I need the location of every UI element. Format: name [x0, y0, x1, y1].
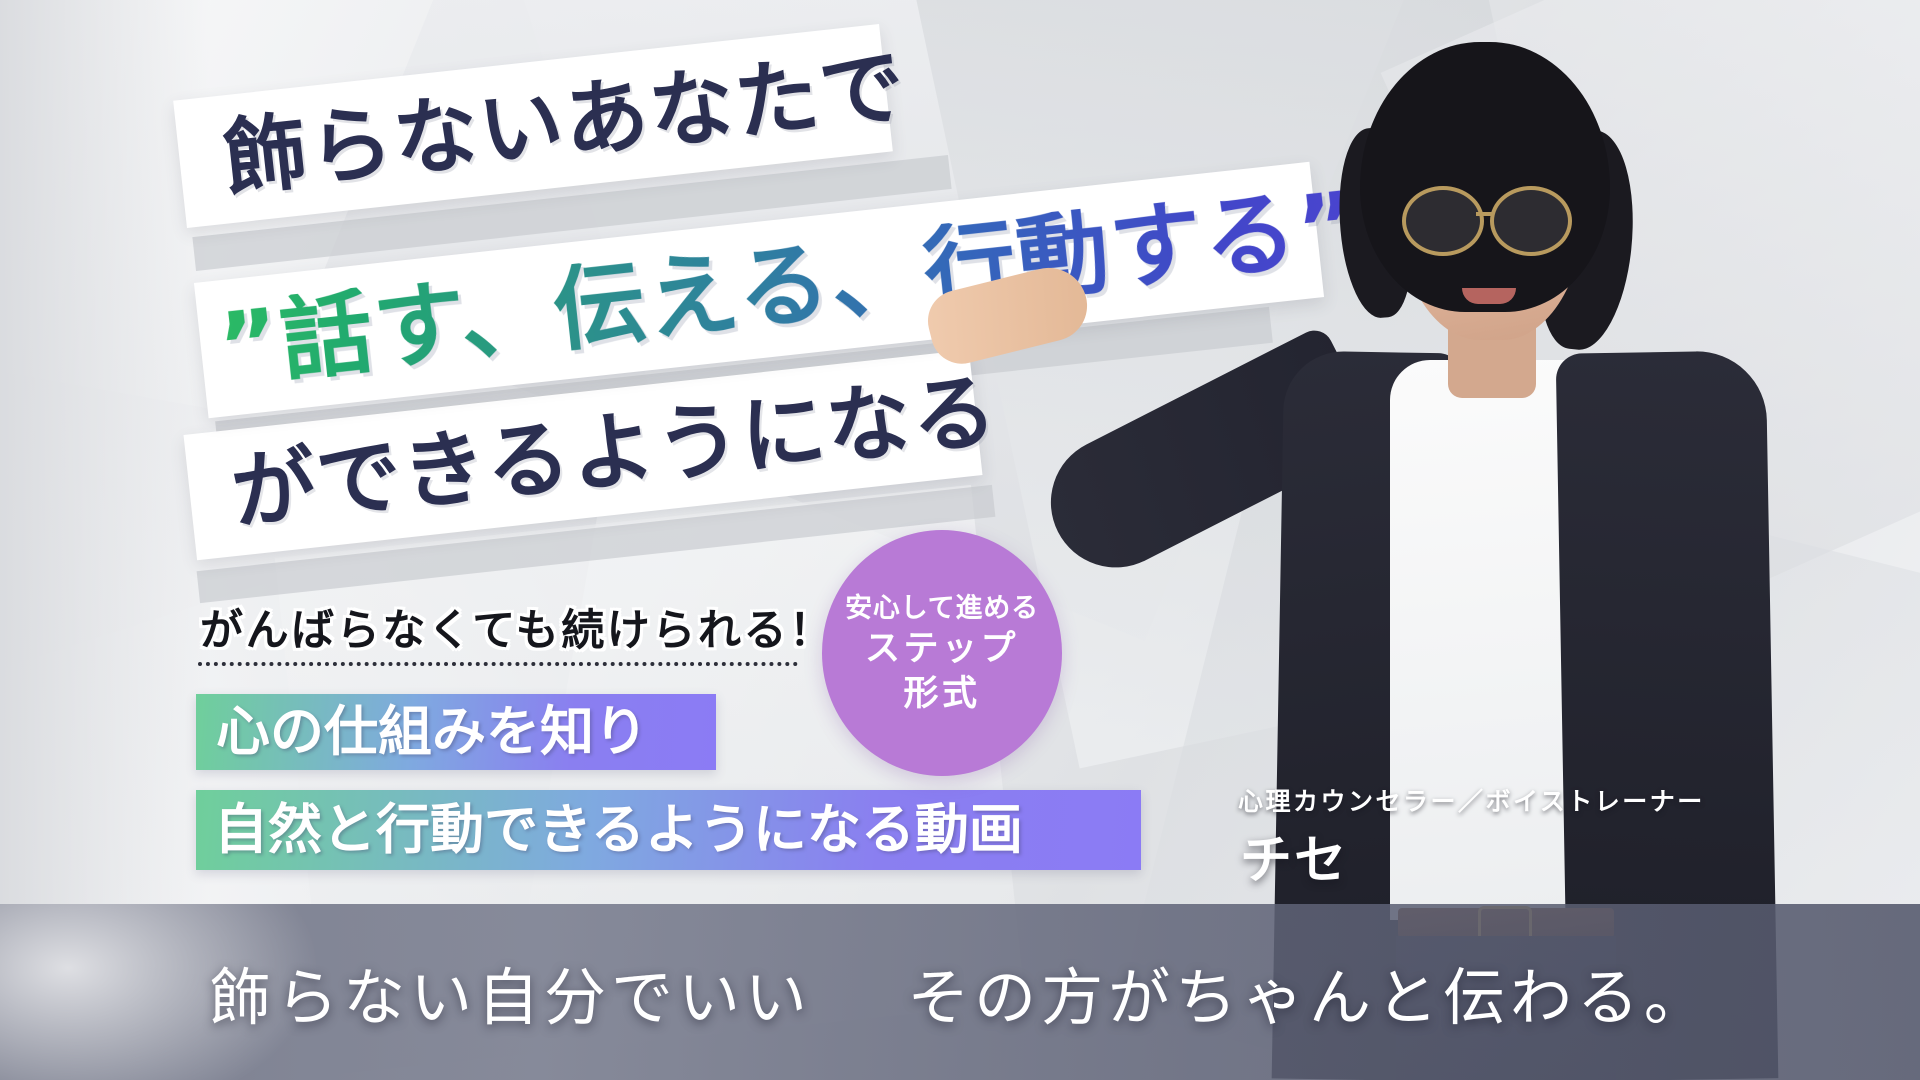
presenter-smile — [1462, 288, 1516, 304]
badge-line3: 形式 — [903, 677, 980, 712]
footer-band: 飾らない自分でいい その方がちゃんと伝わる。 — [0, 904, 1920, 1080]
footer-tagline-part1: 飾らない自分でいい — [209, 961, 812, 1034]
glasses-right-lens — [1490, 186, 1572, 256]
step-format-badge: 安心して進める ステップ 形式 — [822, 530, 1062, 776]
promo-banner-stage: 飾らないあなたで ”話す、伝える、行動する” ができるようになる がんばらなくて… — [0, 0, 1920, 1080]
badge-line2: ステップ — [865, 632, 1019, 667]
presenter-role-label: 心理カウンセラー／ボイストレーナー — [1238, 782, 1705, 818]
glasses-bridge — [1476, 212, 1492, 216]
feature-bar-2-text: 自然と行動できるようになる動画 — [196, 803, 1023, 857]
subhead-handwritten-text: がんばらなくても続けられる！ — [200, 596, 835, 658]
presenter-hair — [1360, 42, 1610, 312]
feature-bar-2: 自然と行動できるようになる動画 — [196, 790, 1141, 870]
feature-bar-1: 心の仕組みを知り — [196, 694, 716, 770]
presenter-name-label: チセ — [1240, 818, 1348, 893]
badge-line1: 安心して進める — [845, 595, 1039, 622]
footer-tagline-part2: その方がちゃんと伝わる。 — [907, 961, 1711, 1034]
subhead-dotted-divider — [198, 662, 798, 666]
glasses-left-lens — [1402, 186, 1484, 256]
feature-bar-1-text: 心の仕組みを知り — [196, 705, 648, 759]
footer-tagline: 飾らない自分でいい その方がちゃんと伝わる。 — [209, 947, 1711, 1037]
